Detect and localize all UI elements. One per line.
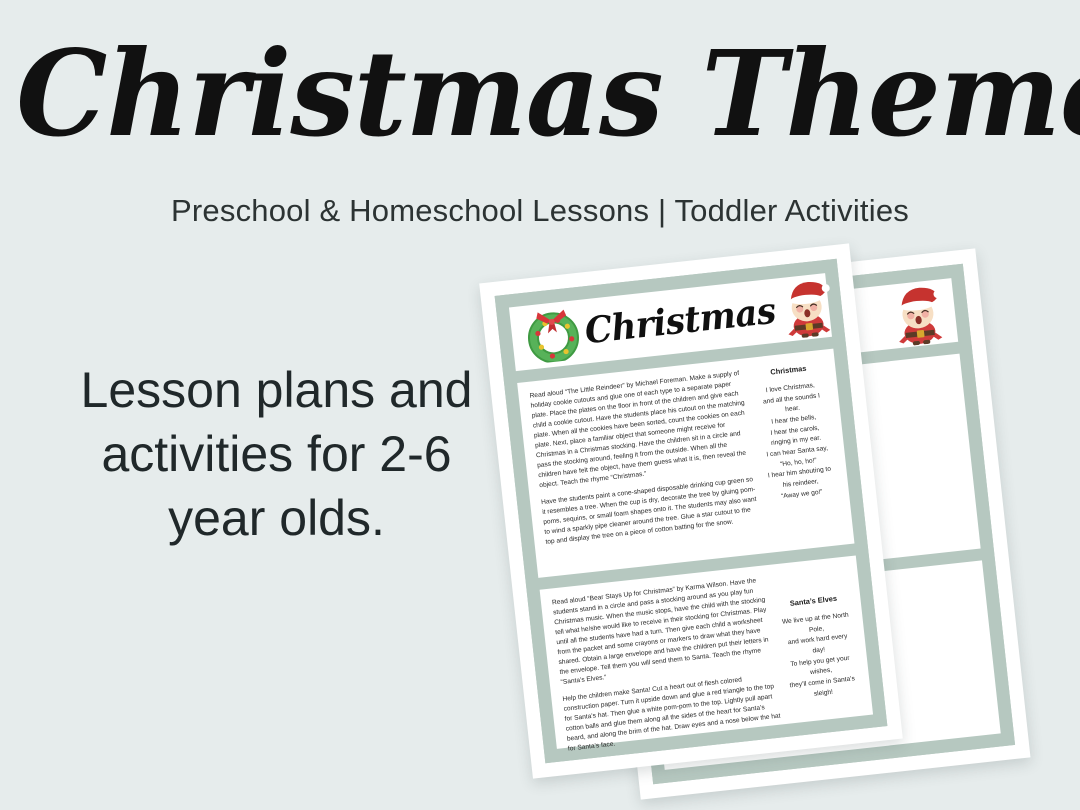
poem-body: I love Christmas, and all the sounds I h… <box>754 380 838 504</box>
lesson-paragraph: Read aloud “The Little Reindeer” by Mich… <box>529 369 754 492</box>
page-subtitle: Preschool & Homeschool Lessons | Toddler… <box>0 193 1080 229</box>
poster-canvas: Christmas Theme Preschool & Homeschool L… <box>0 0 1080 810</box>
page-border-front: Christmas <box>495 259 888 763</box>
lesson-section-two: Read aloud “Bear Stays Up for Christmas”… <box>540 555 873 748</box>
section-one-poem: Christmas I love Christmas, and all the … <box>752 360 843 545</box>
santa-icon <box>777 275 835 340</box>
page-title: Christmas Theme <box>16 34 1064 154</box>
wreath-icon <box>523 305 583 365</box>
poem-body: We live up at the North Pole, and work h… <box>779 610 860 703</box>
section-two-paragraphs: Read aloud “Bear Stays Up for Christmas”… <box>552 575 781 739</box>
santa-icon <box>888 280 948 347</box>
lesson-paragraph: Read aloud “Bear Stays Up for Christmas”… <box>552 575 775 688</box>
poem-title: Santa’s Elves <box>777 592 850 609</box>
lesson-section-one: Read aloud “The Little Reindeer” by Mich… <box>517 349 854 578</box>
front-page-heading: Christmas <box>583 290 778 352</box>
section-one-paragraphs: Read aloud “The Little Reindeer” by Mich… <box>529 369 762 569</box>
section-two-poem: Santa’s Elves We live up at the North Po… <box>774 567 861 716</box>
poem-title: Christmas <box>752 362 825 379</box>
document-page-front[interactable]: Christmas <box>479 243 903 778</box>
promo-text: Lesson plans and activities for 2-6 year… <box>64 358 489 550</box>
